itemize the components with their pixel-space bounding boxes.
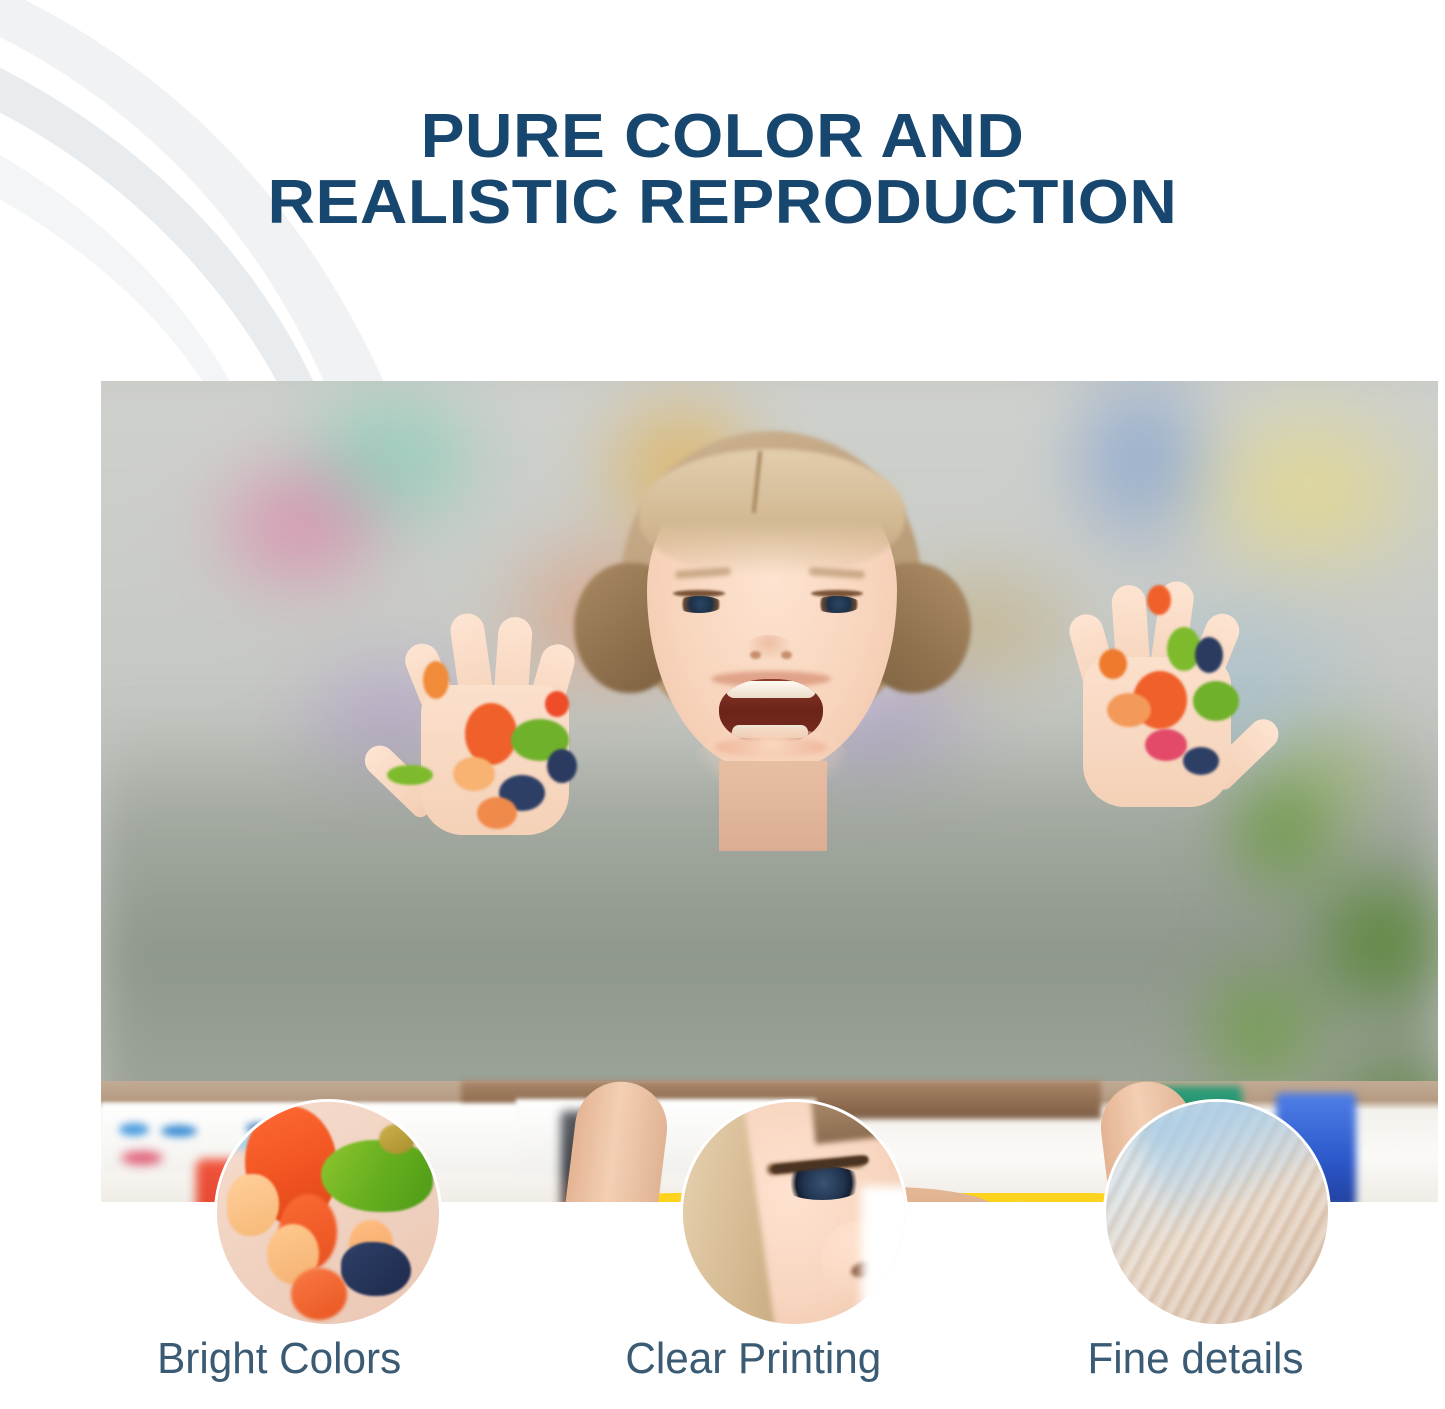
inset-paint-green (321, 1140, 433, 1212)
paint-splotch-orange (465, 703, 517, 765)
caption-clear-printing: Clear Printing (625, 1334, 881, 1384)
nostril-left (750, 651, 761, 659)
caption-bright-colors: Bright Colors (157, 1334, 401, 1384)
paint-splotch-orange (477, 797, 517, 829)
paint-splotch-navy (1183, 747, 1219, 775)
paint-splotch-navy (547, 749, 577, 783)
eye-left (675, 596, 723, 613)
paint-splotch-green (387, 765, 433, 785)
detail-captions: Bright Colors Clear Printing Fine detail… (0, 1334, 1445, 1400)
hair-front (639, 449, 905, 575)
paint-splotch-navy (1195, 637, 1223, 673)
detail-inset-bright-colors (217, 1102, 439, 1324)
paint-splotch-peach (453, 757, 495, 791)
promo-banner: PURE COLOR AND REALISTIC REPRODUCTION (0, 0, 1445, 1409)
painted-hand-left (379, 599, 609, 849)
headline-line-1: PURE COLOR AND (0, 104, 1445, 170)
paint-mark-blue (161, 1125, 197, 1137)
paint-mark-blue (119, 1123, 149, 1136)
inset-paint-olive (379, 1124, 415, 1154)
paint-splotch-green (1193, 681, 1239, 721)
paint-splotch-red (545, 691, 569, 717)
nostril-right (781, 651, 792, 659)
hero-photo (101, 381, 1438, 1202)
page-title: PURE COLOR AND REALISTIC REPRODUCTION (0, 104, 1445, 237)
detail-inset-clear-printing (683, 1102, 905, 1324)
neck (719, 761, 827, 851)
headline-line-2: REALISTIC REPRODUCTION (0, 170, 1445, 236)
paint-splotch-orange (423, 661, 449, 699)
painted-hand-right (1041, 571, 1271, 821)
paint-splotch-orange (1147, 585, 1171, 615)
paint-splotch-peach (1107, 693, 1151, 727)
paint-splotch-magenta (1145, 729, 1187, 761)
inset-paint-navy (341, 1242, 411, 1296)
upper-teeth (726, 681, 816, 698)
paint-splotch-orange (1099, 649, 1127, 679)
inset-paint-orange (291, 1268, 347, 1320)
eye-right (813, 596, 861, 613)
paint-mark-red (121, 1151, 163, 1165)
detail-inset-fine-details (1106, 1102, 1328, 1324)
inset-white-highlight (861, 1186, 905, 1324)
caption-fine-details: Fine details (1088, 1334, 1304, 1384)
